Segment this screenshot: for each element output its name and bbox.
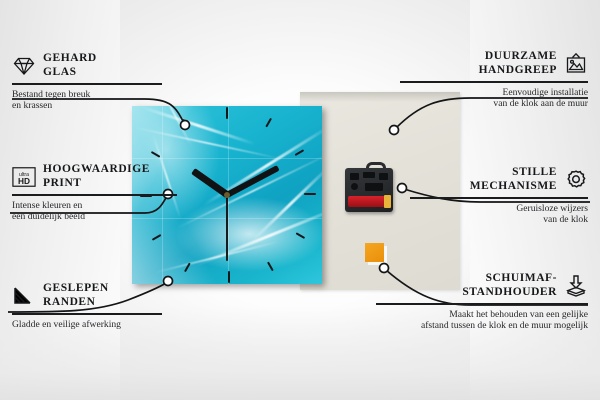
callout-desc-1: Gladde en veilige afwerking: [12, 319, 162, 331]
callout-desc-2: en krassen: [12, 100, 162, 112]
callout-desc-1: Eenvoudige installatie: [400, 87, 588, 99]
callout-hoogwaardige-print: ultra HD HOOGWAARDIGE PRINT Intense kleu…: [12, 163, 177, 223]
callout-divider: [400, 81, 588, 83]
callout-desc-2: van de klok aan de muur: [400, 98, 588, 110]
diamond-icon: [12, 54, 36, 78]
callout-title-2: HANDGREEP: [479, 64, 557, 78]
callout-stille-mechanisme: STILLE MECHANISME Geruisloze wijzers van…: [410, 166, 588, 226]
callout-title: STILLE: [470, 166, 557, 180]
callout-divider: [376, 303, 588, 305]
callout-desc-1: Intense kleuren en: [12, 200, 177, 212]
callout-desc-2: van de klok: [410, 214, 588, 226]
callout-title: GEHARD: [43, 52, 97, 66]
callout-title: SCHUIMAF-: [462, 272, 557, 286]
callout-title-2: MECHANISME: [470, 180, 557, 194]
callout-duurzame-handgreep: DUURZAME HANDGREEP Eenvoudige installati…: [400, 50, 588, 110]
callout-title-2: RANDEN: [43, 296, 109, 310]
callout-divider: [12, 313, 162, 315]
svg-text:HD: HD: [18, 175, 30, 185]
callout-title-2: PRINT: [43, 177, 150, 191]
callout-title: HOOGWAARDIGE: [43, 163, 150, 177]
callout-divider: [12, 83, 162, 85]
clock-second-hand: [226, 195, 228, 261]
callout-desc-2: afstand tussen de klok en de muur mogeli…: [376, 320, 588, 332]
callout-desc-1: Bestand tegen breuk: [12, 89, 162, 101]
battery-terminal: [384, 195, 391, 208]
callout-schuimafstandhouder: SCHUIMAF- STANDHOUDER Maakt het behouden…: [376, 272, 588, 332]
clock-center-hub: [224, 192, 230, 198]
gear-icon: [564, 168, 588, 192]
foam-spacer-pad: [365, 243, 384, 262]
callout-geslepen-randen: GESLEPEN RANDEN Gladde en veilige afwerk…: [12, 282, 162, 330]
ultra-hd-icon: ultra HD: [12, 165, 36, 189]
infographic-canvas: GEHARD GLAS Bestand tegen breuk en krass…: [0, 0, 600, 400]
callout-gehard-glas: GEHARD GLAS Bestand tegen breuk en krass…: [12, 52, 162, 112]
picture-hanger-icon: [564, 52, 588, 76]
spacer-arrow-icon: [564, 274, 588, 298]
beveled-edge-icon: [12, 284, 36, 308]
callout-desc-2: een duidelijk beeld: [12, 211, 177, 223]
callout-divider: [410, 197, 588, 199]
callout-divider: [12, 194, 177, 196]
callout-title: GESLEPEN: [43, 282, 109, 296]
callout-desc-1: Maakt het behouden van een gelijke: [376, 309, 588, 321]
callout-title-2: STANDHOUDER: [462, 286, 557, 300]
callout-title-2: GLAS: [43, 66, 97, 80]
callout-title: DUURZAME: [479, 50, 557, 64]
callout-desc-1: Geruisloze wijzers: [410, 203, 588, 215]
